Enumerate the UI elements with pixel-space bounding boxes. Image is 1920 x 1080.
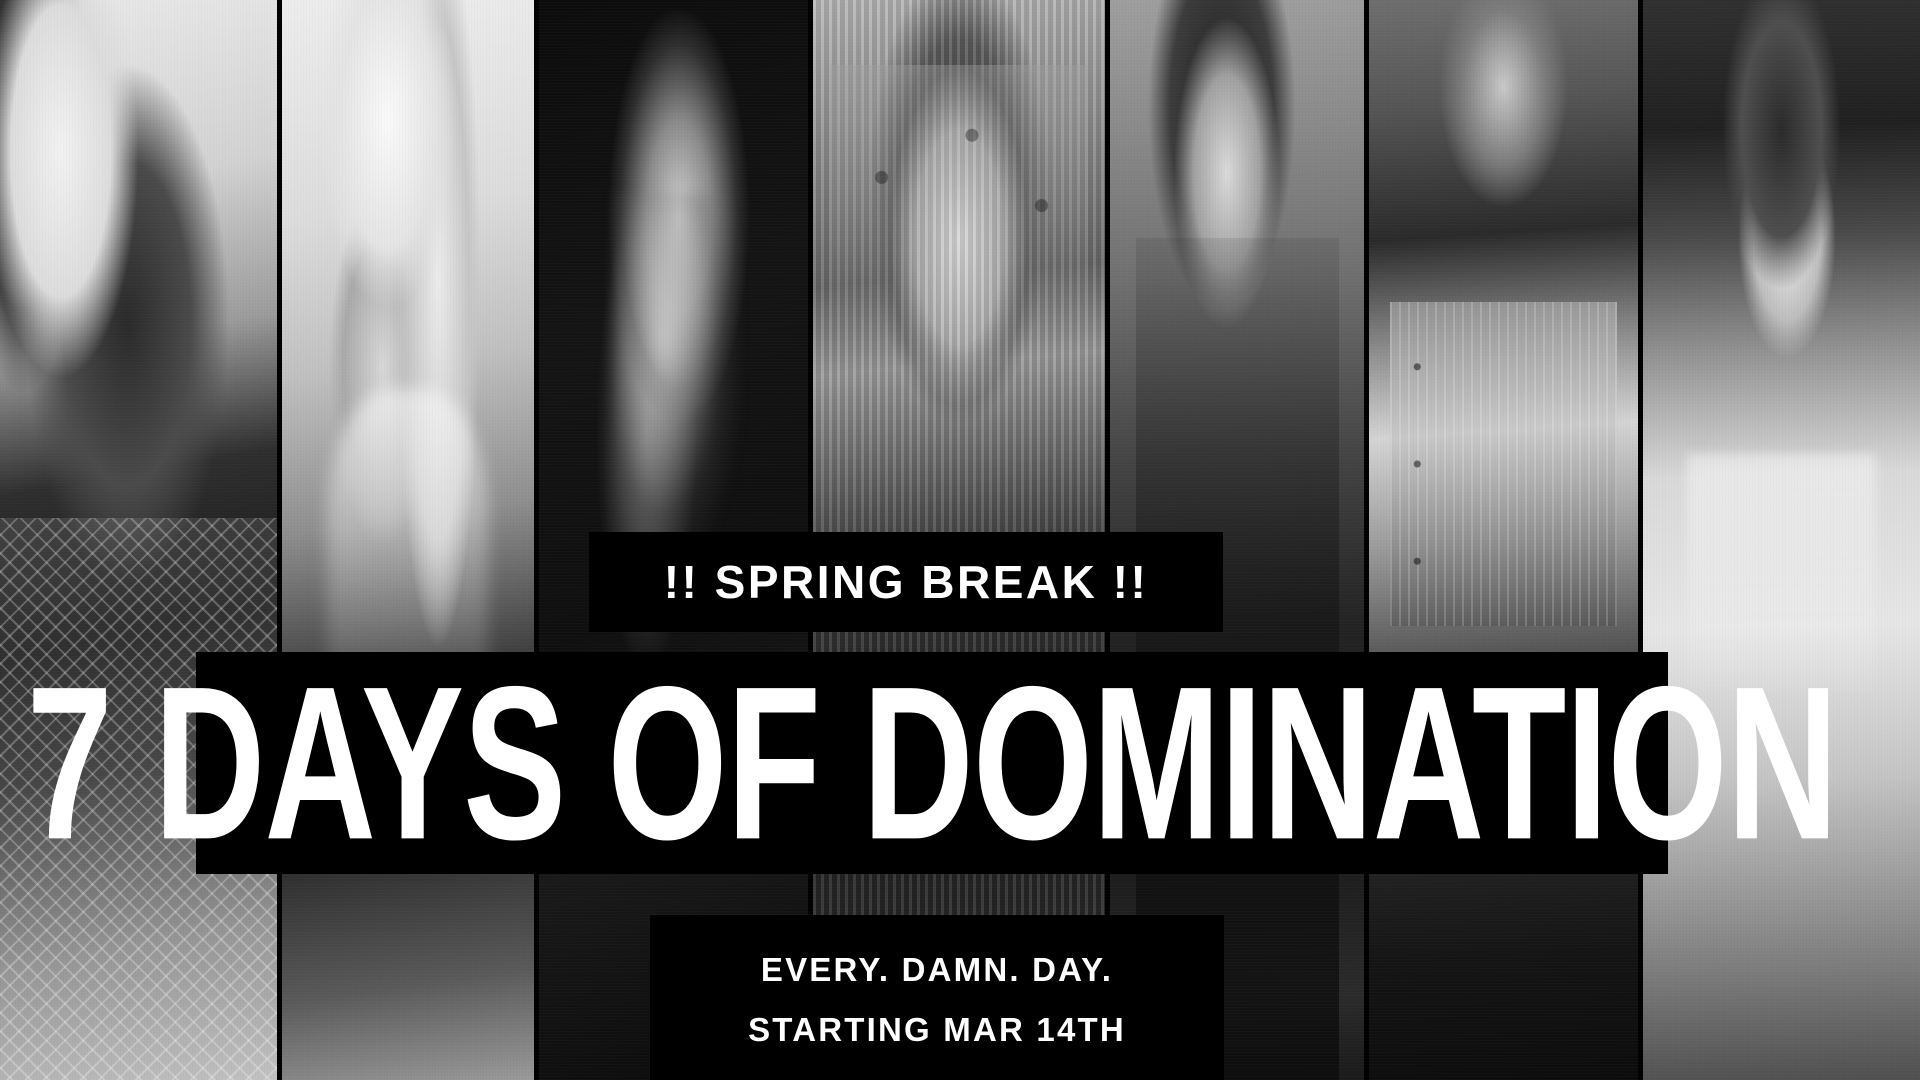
footer-banner: EVERY. DAMN. DAY. STARTING MAR 14TH (650, 915, 1224, 1080)
collage-panel-7 (1643, 0, 1920, 1080)
collage-panel-6 (1369, 0, 1643, 1080)
collage-panel-1 (0, 0, 282, 1080)
panel-photo-7 (1643, 0, 1920, 1080)
panel-photo-2 (282, 0, 534, 1080)
promo-poster: !! SPRING BREAK !! 7 DAYS OF DOMINATION … (0, 0, 1920, 1080)
eyebrow-text: !! SPRING BREAK !! (664, 555, 1149, 609)
page-title: 7 DAYS OF DOMINATION (27, 654, 1838, 872)
headline-banner: 7 DAYS OF DOMINATION (196, 652, 1668, 874)
panel-photo-1 (0, 0, 277, 1080)
panel-photo-6 (1369, 0, 1638, 1080)
collage-panel-2 (282, 0, 539, 1080)
footer-line-start-date: STARTING MAR 14TH (748, 1011, 1126, 1049)
footer-line-frequency: EVERY. DAMN. DAY. (761, 951, 1113, 989)
eyebrow-banner: !! SPRING BREAK !! (589, 532, 1223, 632)
